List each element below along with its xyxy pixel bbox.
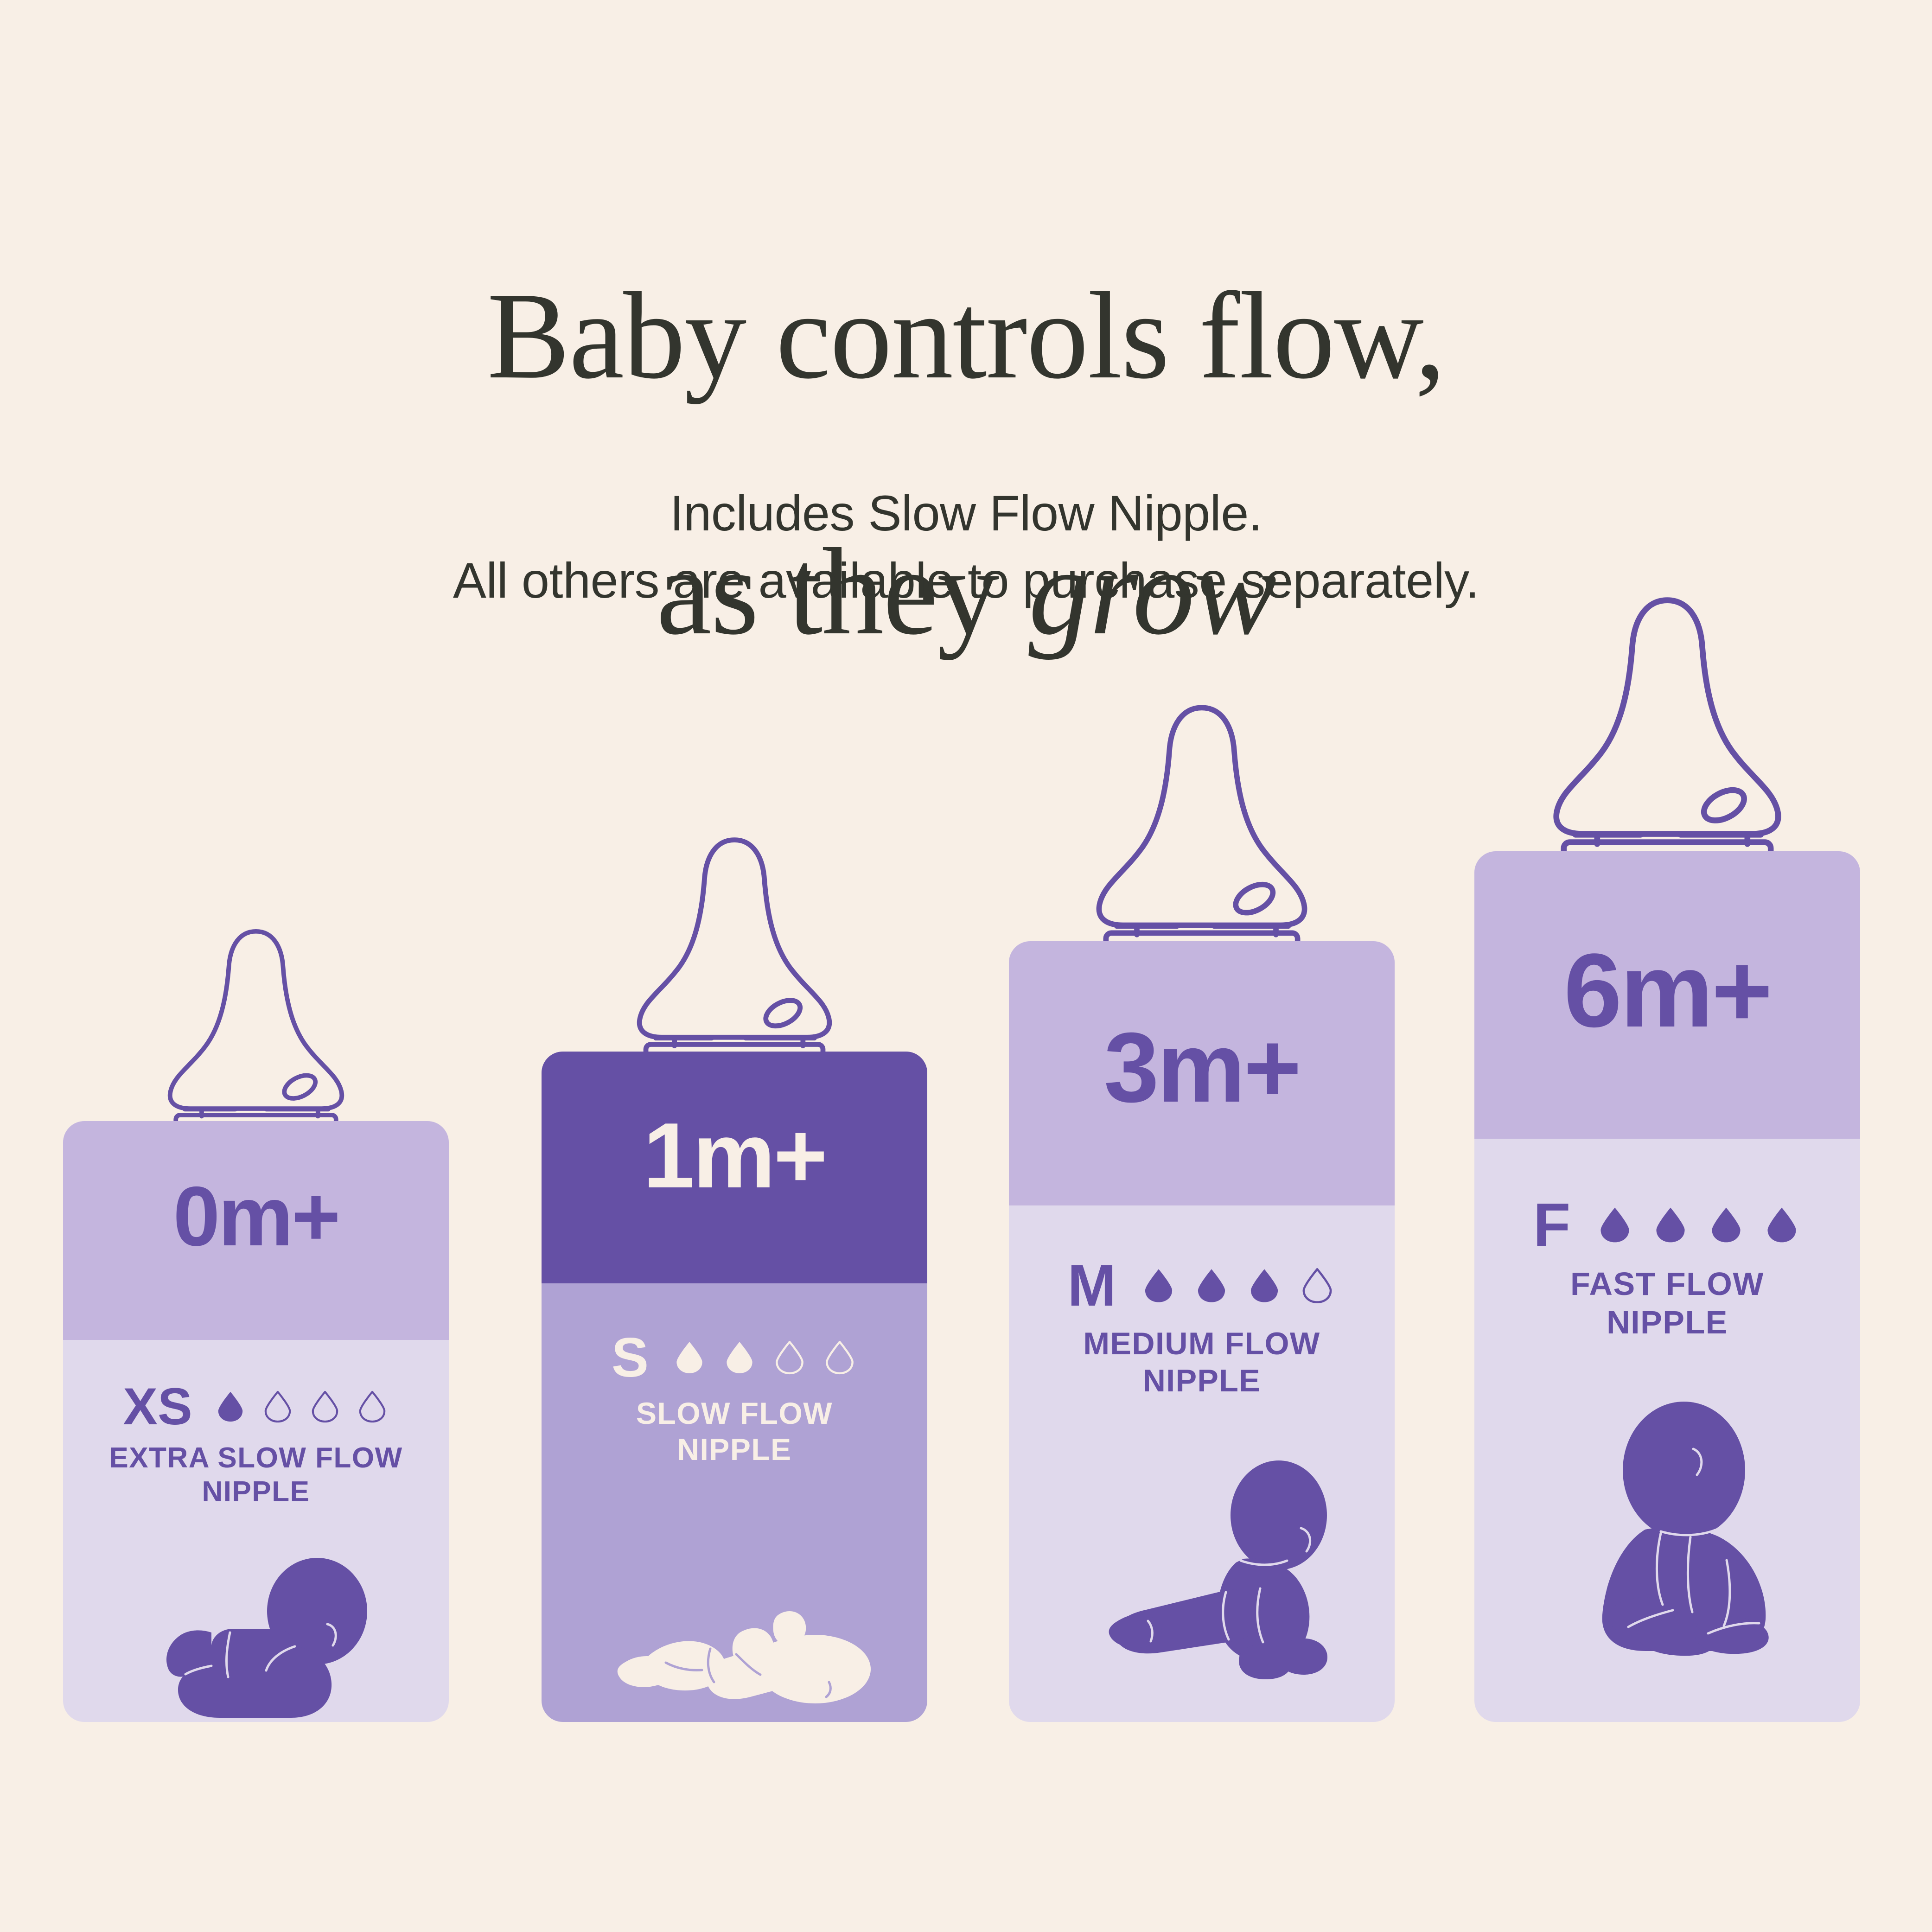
age-label: 1m+ — [542, 1103, 927, 1209]
drop-filled-icon — [1246, 1267, 1283, 1304]
drop-outline-icon — [308, 1390, 342, 1423]
bottle-6m[interactable]: 6m+FFAST FLOW NIPPLE — [1474, 851, 1860, 1722]
bottle-3m[interactable]: 3m+MMEDIUM FLOW NIPPLE — [1009, 941, 1395, 1722]
drop-filled-icon — [672, 1340, 707, 1375]
drop-outline-icon — [772, 1340, 807, 1375]
nipple-icon — [1086, 694, 1318, 944]
bottle-1m[interactable]: 1m+SSLOW FLOW NIPPLE — [542, 1052, 927, 1722]
baby-newborn-lying-icon — [142, 1555, 383, 1722]
nipple-flow-name: MEDIUM FLOW NIPPLE — [1009, 1325, 1395, 1399]
drop-filled-icon — [1140, 1267, 1177, 1304]
nipple-size-letter: M — [1068, 1256, 1116, 1315]
bottle-0m[interactable]: 0m+XSEXTRA SLOW FLOW NIPPLE — [63, 1121, 449, 1722]
headline-line-1: Baby controls flow, — [487, 267, 1445, 404]
drop-outline-icon — [356, 1390, 389, 1423]
drop-filled-icon — [722, 1340, 757, 1375]
drop-filled-icon — [1707, 1205, 1746, 1244]
drop-filled-icon — [1193, 1267, 1230, 1304]
baby-baby-crawling-icon — [1078, 1460, 1366, 1683]
drop-filled-icon — [214, 1390, 247, 1423]
nipple-icon — [627, 827, 842, 1054]
flow-rating-row: XS — [63, 1381, 449, 1433]
flow-drop-meter — [1595, 1205, 1801, 1244]
baby-infant-kicking-icon — [597, 1515, 885, 1710]
baby-baby-sitting-icon — [1558, 1401, 1808, 1660]
age-label: 6m+ — [1474, 930, 1860, 1051]
flow-drop-meter — [214, 1390, 389, 1423]
nipple-icon — [159, 920, 353, 1124]
age-label: 0m+ — [63, 1167, 449, 1265]
nipple-flow-name: EXTRA SLOW FLOW NIPPLE — [63, 1441, 449, 1509]
nipple-size-letter: F — [1533, 1194, 1571, 1256]
drop-filled-icon — [1762, 1205, 1801, 1244]
drop-filled-icon — [1595, 1205, 1634, 1244]
flow-rating-row: S — [542, 1330, 927, 1385]
infographic-canvas: Baby controls flow, as they grow Include… — [0, 0, 1932, 1932]
flow-drop-meter — [672, 1340, 857, 1375]
drop-filled-icon — [1651, 1205, 1690, 1244]
nipple-size-letter: S — [612, 1330, 649, 1385]
flow-drop-meter — [1140, 1267, 1336, 1304]
drop-outline-icon — [261, 1390, 294, 1423]
age-label: 3m+ — [1009, 1011, 1395, 1125]
flow-rating-row: F — [1474, 1194, 1860, 1256]
nipple-flow-name: FAST FLOW NIPPLE — [1474, 1265, 1860, 1341]
flow-rating-row: M — [1009, 1256, 1395, 1315]
drop-outline-icon — [1299, 1267, 1336, 1304]
nipple-icon — [1542, 585, 1792, 854]
nipple-size-letter: XS — [123, 1381, 192, 1433]
nipple-flow-name: SLOW FLOW NIPPLE — [542, 1396, 927, 1468]
drop-outline-icon — [822, 1340, 857, 1375]
